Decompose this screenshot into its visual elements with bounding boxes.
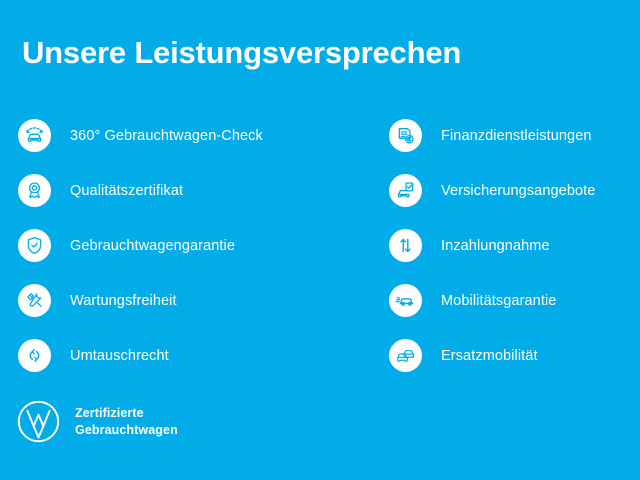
promo-banner: Unsere Leistungsversprechen 360° Gebrauc…: [0, 0, 640, 480]
feature-item: Wartungsfreiheit: [18, 273, 368, 328]
feature-item: Inzahlungnahme: [389, 218, 634, 273]
brand-lockup: Zertifizierte Gebrauchtwagen: [16, 399, 178, 444]
car-document-check-icon: [389, 174, 422, 207]
brand-claim-line-1: Zertifizierte: [75, 405, 178, 422]
two-cars-icon: [389, 339, 422, 372]
feature-item: Qualitätszertifikat: [18, 163, 368, 218]
car-motion-icon: [389, 284, 422, 317]
feature-item: Mobilitätsgarantie: [389, 273, 634, 328]
brand-claim: Zertifizierte Gebrauchtwagen: [75, 405, 178, 439]
feature-list-left: 360° Gebrauchtwagen-Check Qualitätszerti…: [18, 108, 368, 383]
feature-label: Gebrauchtwagengarantie: [70, 237, 235, 255]
feature-list-right: Finanzdienstleistungen Versicherungsange…: [389, 108, 634, 383]
page-title: Unsere Leistungsversprechen: [22, 34, 461, 72]
feature-item: 360° Gebrauchtwagen-Check: [18, 108, 368, 163]
feature-item: Umtauschrecht: [18, 328, 368, 383]
feature-item: Finanzdienstleistungen: [389, 108, 634, 163]
feature-label: Inzahlungnahme: [441, 237, 550, 255]
up-down-arrows-icon: [389, 229, 422, 262]
feature-label: Umtauschrecht: [70, 347, 169, 365]
volkswagen-logo: [16, 399, 61, 444]
document-euro-icon: [389, 119, 422, 152]
feature-label: Mobilitätsgarantie: [441, 292, 556, 310]
car-360-check-icon: [18, 119, 51, 152]
feature-item: Ersatzmobilität: [389, 328, 634, 383]
feature-label: Ersatzmobilität: [441, 347, 538, 365]
brand-claim-line-2: Gebrauchtwagen: [75, 422, 178, 439]
feature-item: Gebrauchtwagengarantie: [18, 218, 368, 273]
feature-label: Versicherungsangebote: [441, 182, 595, 200]
exchange-arrows-icon: [18, 339, 51, 372]
feature-label: Wartungsfreiheit: [70, 292, 177, 310]
award-rosette-icon: [18, 174, 51, 207]
feature-label: Finanzdienstleistungen: [441, 127, 592, 145]
wrench-screwdriver-icon: [18, 284, 51, 317]
feature-label: Qualitätszertifikat: [70, 182, 183, 200]
feature-label: 360° Gebrauchtwagen-Check: [70, 127, 263, 145]
feature-item: Versicherungsangebote: [389, 163, 634, 218]
shield-check-icon: [18, 229, 51, 262]
